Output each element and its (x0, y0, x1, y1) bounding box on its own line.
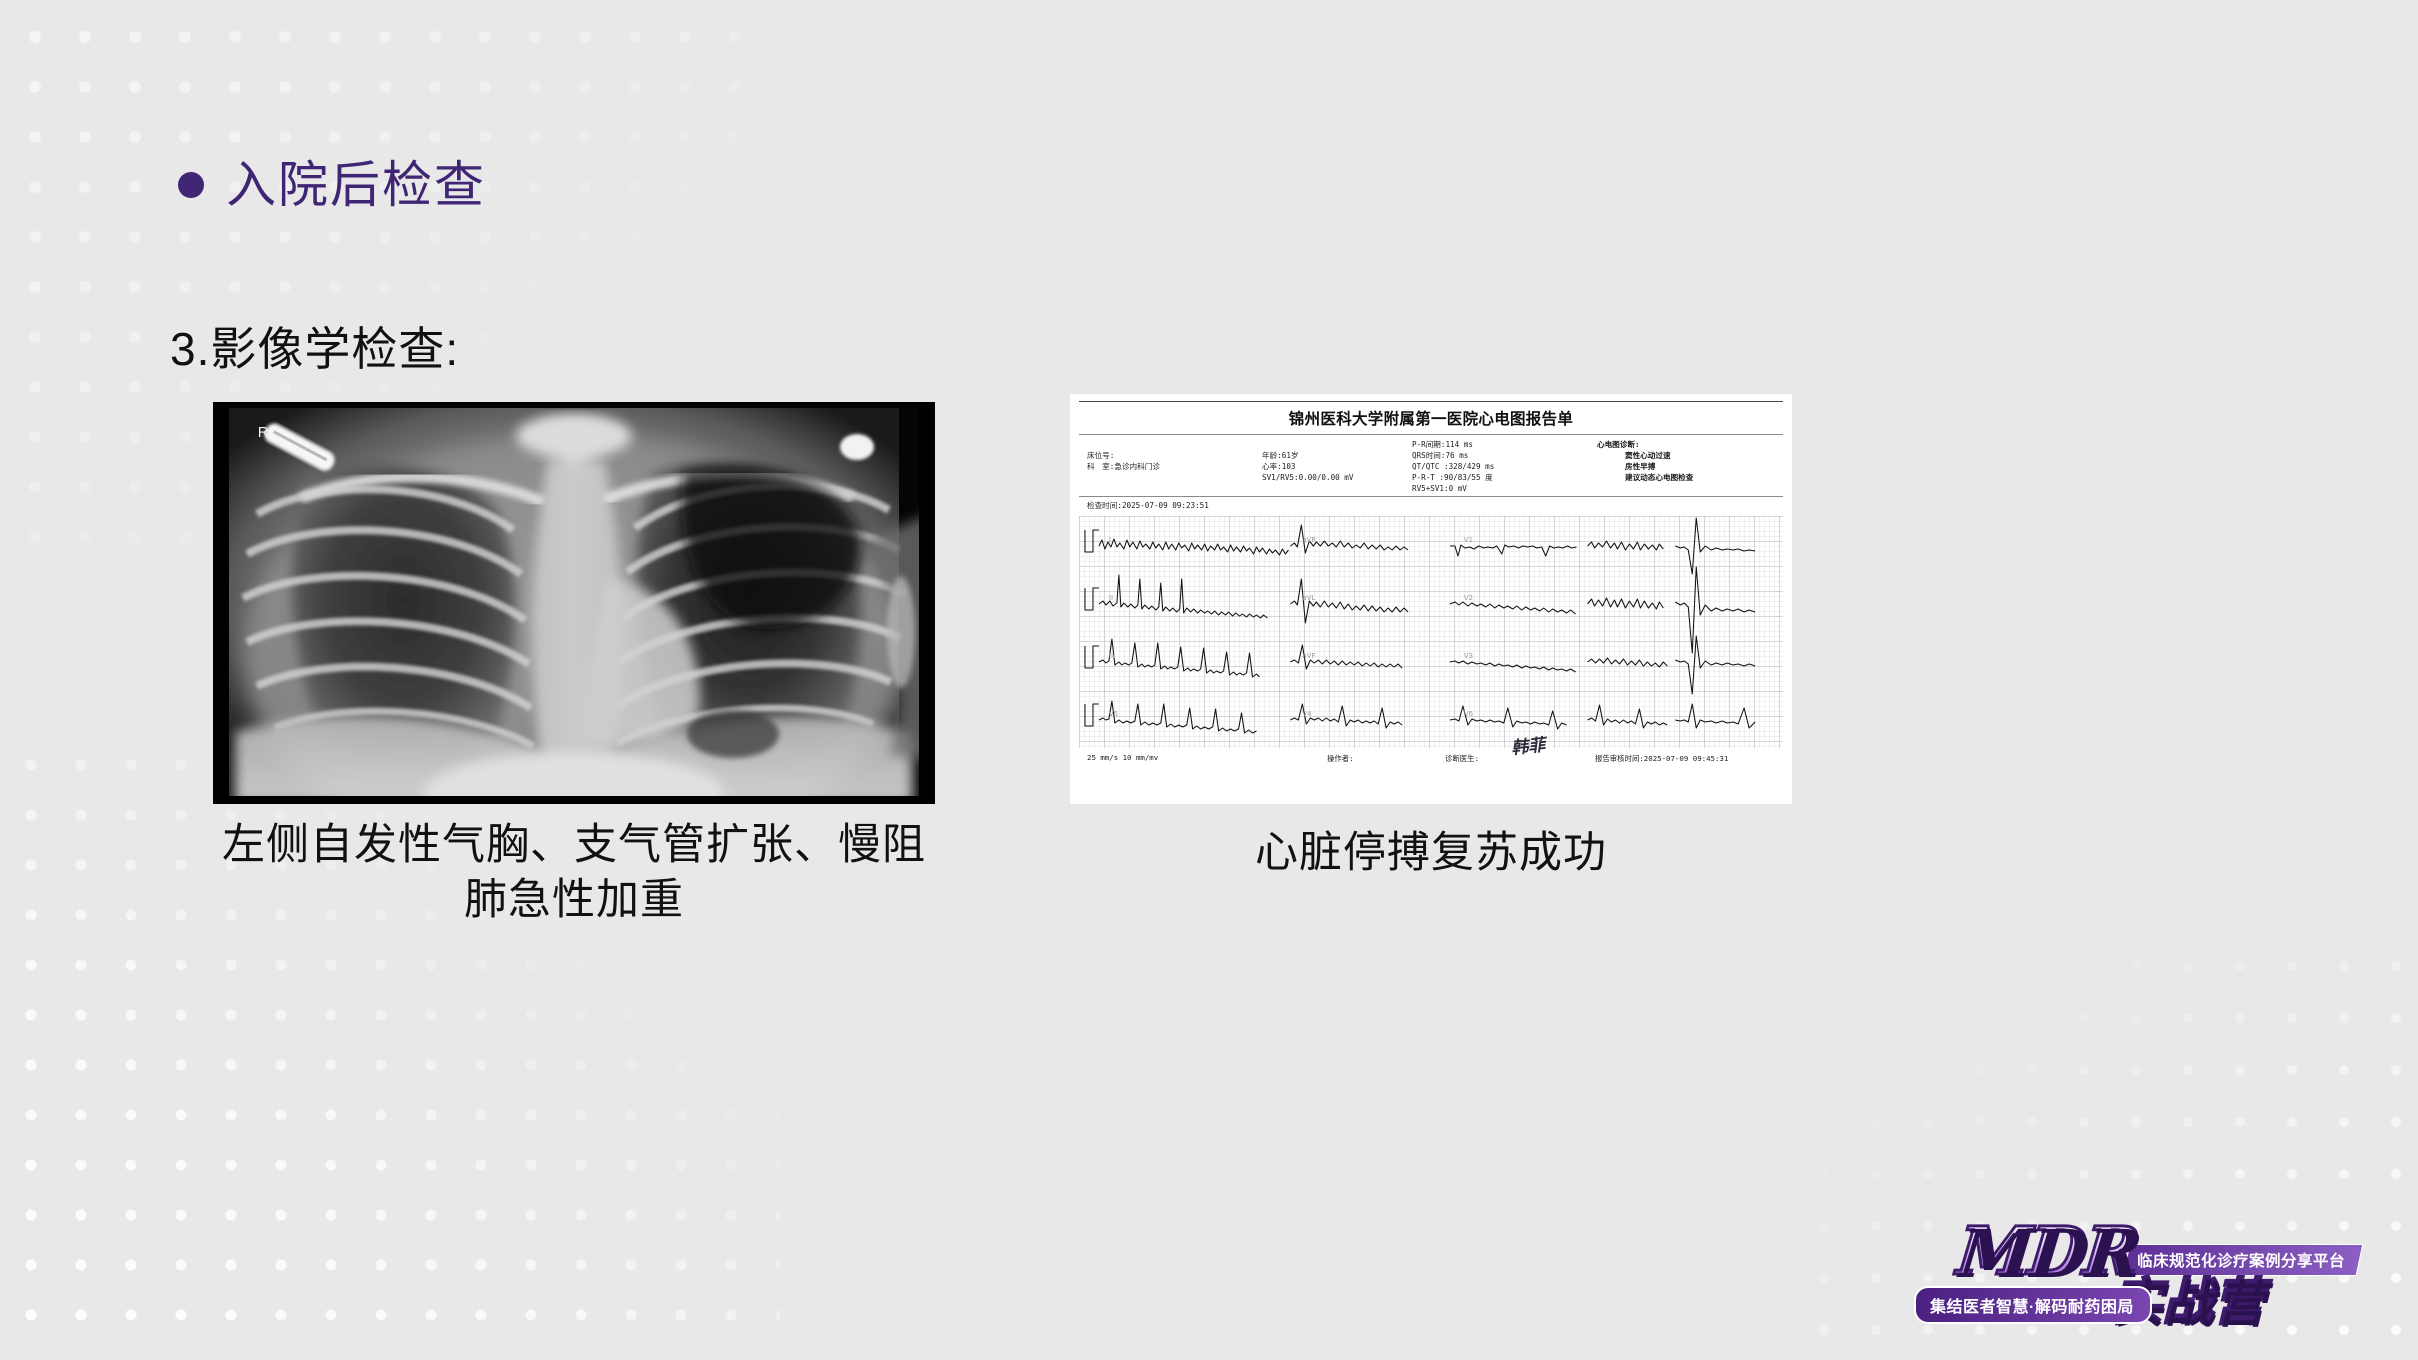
prt-axis-field: P-R-T :90/83/55 度 (1412, 472, 1597, 483)
sv1-rv5-field: SV1/RV5:0.00/0.00 mV (1262, 472, 1412, 483)
logo-tagline-bottom: 集结医者智慧·解码耐药困局 (1914, 1286, 2152, 1324)
ecg-report-figure: 锦州医科大学附属第一医院心电图报告单 床位号: 科 室:急诊内科门诊 年龄:61… (1070, 394, 1792, 804)
ecg-footer: 25 mm/s 10 mm/mv 操作者: 诊断医生: 报告审核时间:2025-… (1079, 748, 1783, 764)
heading-label: 入院后检查 (226, 160, 486, 210)
svg-text:V3: V3 (1464, 652, 1473, 660)
diagnosis-item: 房性早搏 (1597, 461, 1781, 472)
chest-xray-figure: R (213, 402, 935, 804)
ecg-report-title: 锦州医科大学附属第一医院心电图报告单 (1079, 402, 1783, 434)
xray-caption: 左侧自发性气胸、支气管扩张、慢阻肺急性加重 (213, 818, 935, 928)
ecg-patient-column: 床位号: 科 室:急诊内科门诊 (1087, 439, 1262, 494)
slide-heading: 入院后检查 (178, 160, 486, 210)
svg-text:V4: V4 (1302, 710, 1312, 718)
speed-gain-label: 25 mm/s 10 mm/mv (1087, 753, 1327, 764)
svg-text:V6: V6 (1464, 710, 1473, 718)
svg-text:aVF: aVF (1302, 652, 1315, 660)
diagnosis-item: 窦性心动过速 (1597, 450, 1781, 461)
rv5-sv1-field: RV5+SV1:0 mV (1412, 483, 1597, 494)
ecg-waveform-strips: IaVRV1 IIaVLV2 IIIaVFV3 V5V4V6 (1079, 516, 1783, 748)
ecg-measurements-column: P-R间期:114 ms QRS时间:76 ms QT/QTC :328/429… (1412, 439, 1597, 494)
qt-qtc-field: QT/QTC :328/429 ms (1412, 461, 1597, 472)
bed-no-field: 床位号: (1087, 450, 1262, 461)
ecg-caption: 心脏停搏复苏成功 (1070, 818, 1792, 880)
svg-text:V2: V2 (1464, 594, 1473, 602)
age-field: 年龄:61岁 (1262, 450, 1412, 461)
svg-text:I: I (1109, 536, 1111, 544)
xray-frame: R (213, 402, 935, 804)
xray-image (213, 402, 935, 804)
department-field: 科 室:急诊内科门诊 (1087, 461, 1262, 472)
ecg-diagnosis-column: 心电图诊断: 窦性心动过速 房性早搏 建议动态心电图检查 (1597, 439, 1781, 494)
page-title: 3.影像学检查: (170, 313, 459, 379)
ecg-report-sheet: 锦州医科大学附属第一医院心电图报告单 床位号: 科 室:急诊内科门诊 年龄:61… (1070, 394, 1792, 804)
ecg-info-block: 床位号: 科 室:急诊内科门诊 年龄:61岁 心率:103 SV1/RV5:0.… (1079, 435, 1783, 496)
ecg-traces: IaVRV1 IIaVLV2 IIIaVFV3 V5V4V6 (1079, 516, 1783, 748)
diagnosis-heading: 心电图诊断: (1597, 439, 1781, 450)
svg-text:II: II (1109, 594, 1113, 602)
doctor-signature: 韩菲 (1510, 730, 1546, 758)
pr-interval-field: P-R间期:114 ms (1412, 439, 1597, 450)
mdr-logo: 临床规范化诊疗案例分享平台 MDR 实战营 集结医者智慧·解码耐药困局 (1896, 1210, 2396, 1342)
heart-rate-field: 心率:103 (1262, 461, 1412, 472)
ecg-vitals-column: 年龄:61岁 心率:103 SV1/RV5:0.00/0.00 mV (1262, 439, 1412, 494)
svg-text:aVL: aVL (1302, 594, 1315, 602)
bullet-icon (178, 172, 204, 198)
svg-text:aVR: aVR (1302, 536, 1316, 544)
diagnosis-item: 建议动态心电图检查 (1597, 472, 1781, 483)
xray-orientation-marker: R (258, 424, 270, 441)
operator-label: 操作者: (1327, 753, 1445, 764)
exam-time-label: 检查时间:2025-07-09 09:23:51 (1079, 497, 1783, 514)
qrs-duration-field: QRS时间:76 ms (1412, 450, 1597, 461)
review-time-label: 报告审核时间:2025-07-09 09:45:31 (1595, 753, 1779, 764)
svg-text:V5: V5 (1109, 710, 1118, 718)
svg-text:III: III (1109, 652, 1115, 660)
svg-text:V1: V1 (1464, 536, 1473, 544)
